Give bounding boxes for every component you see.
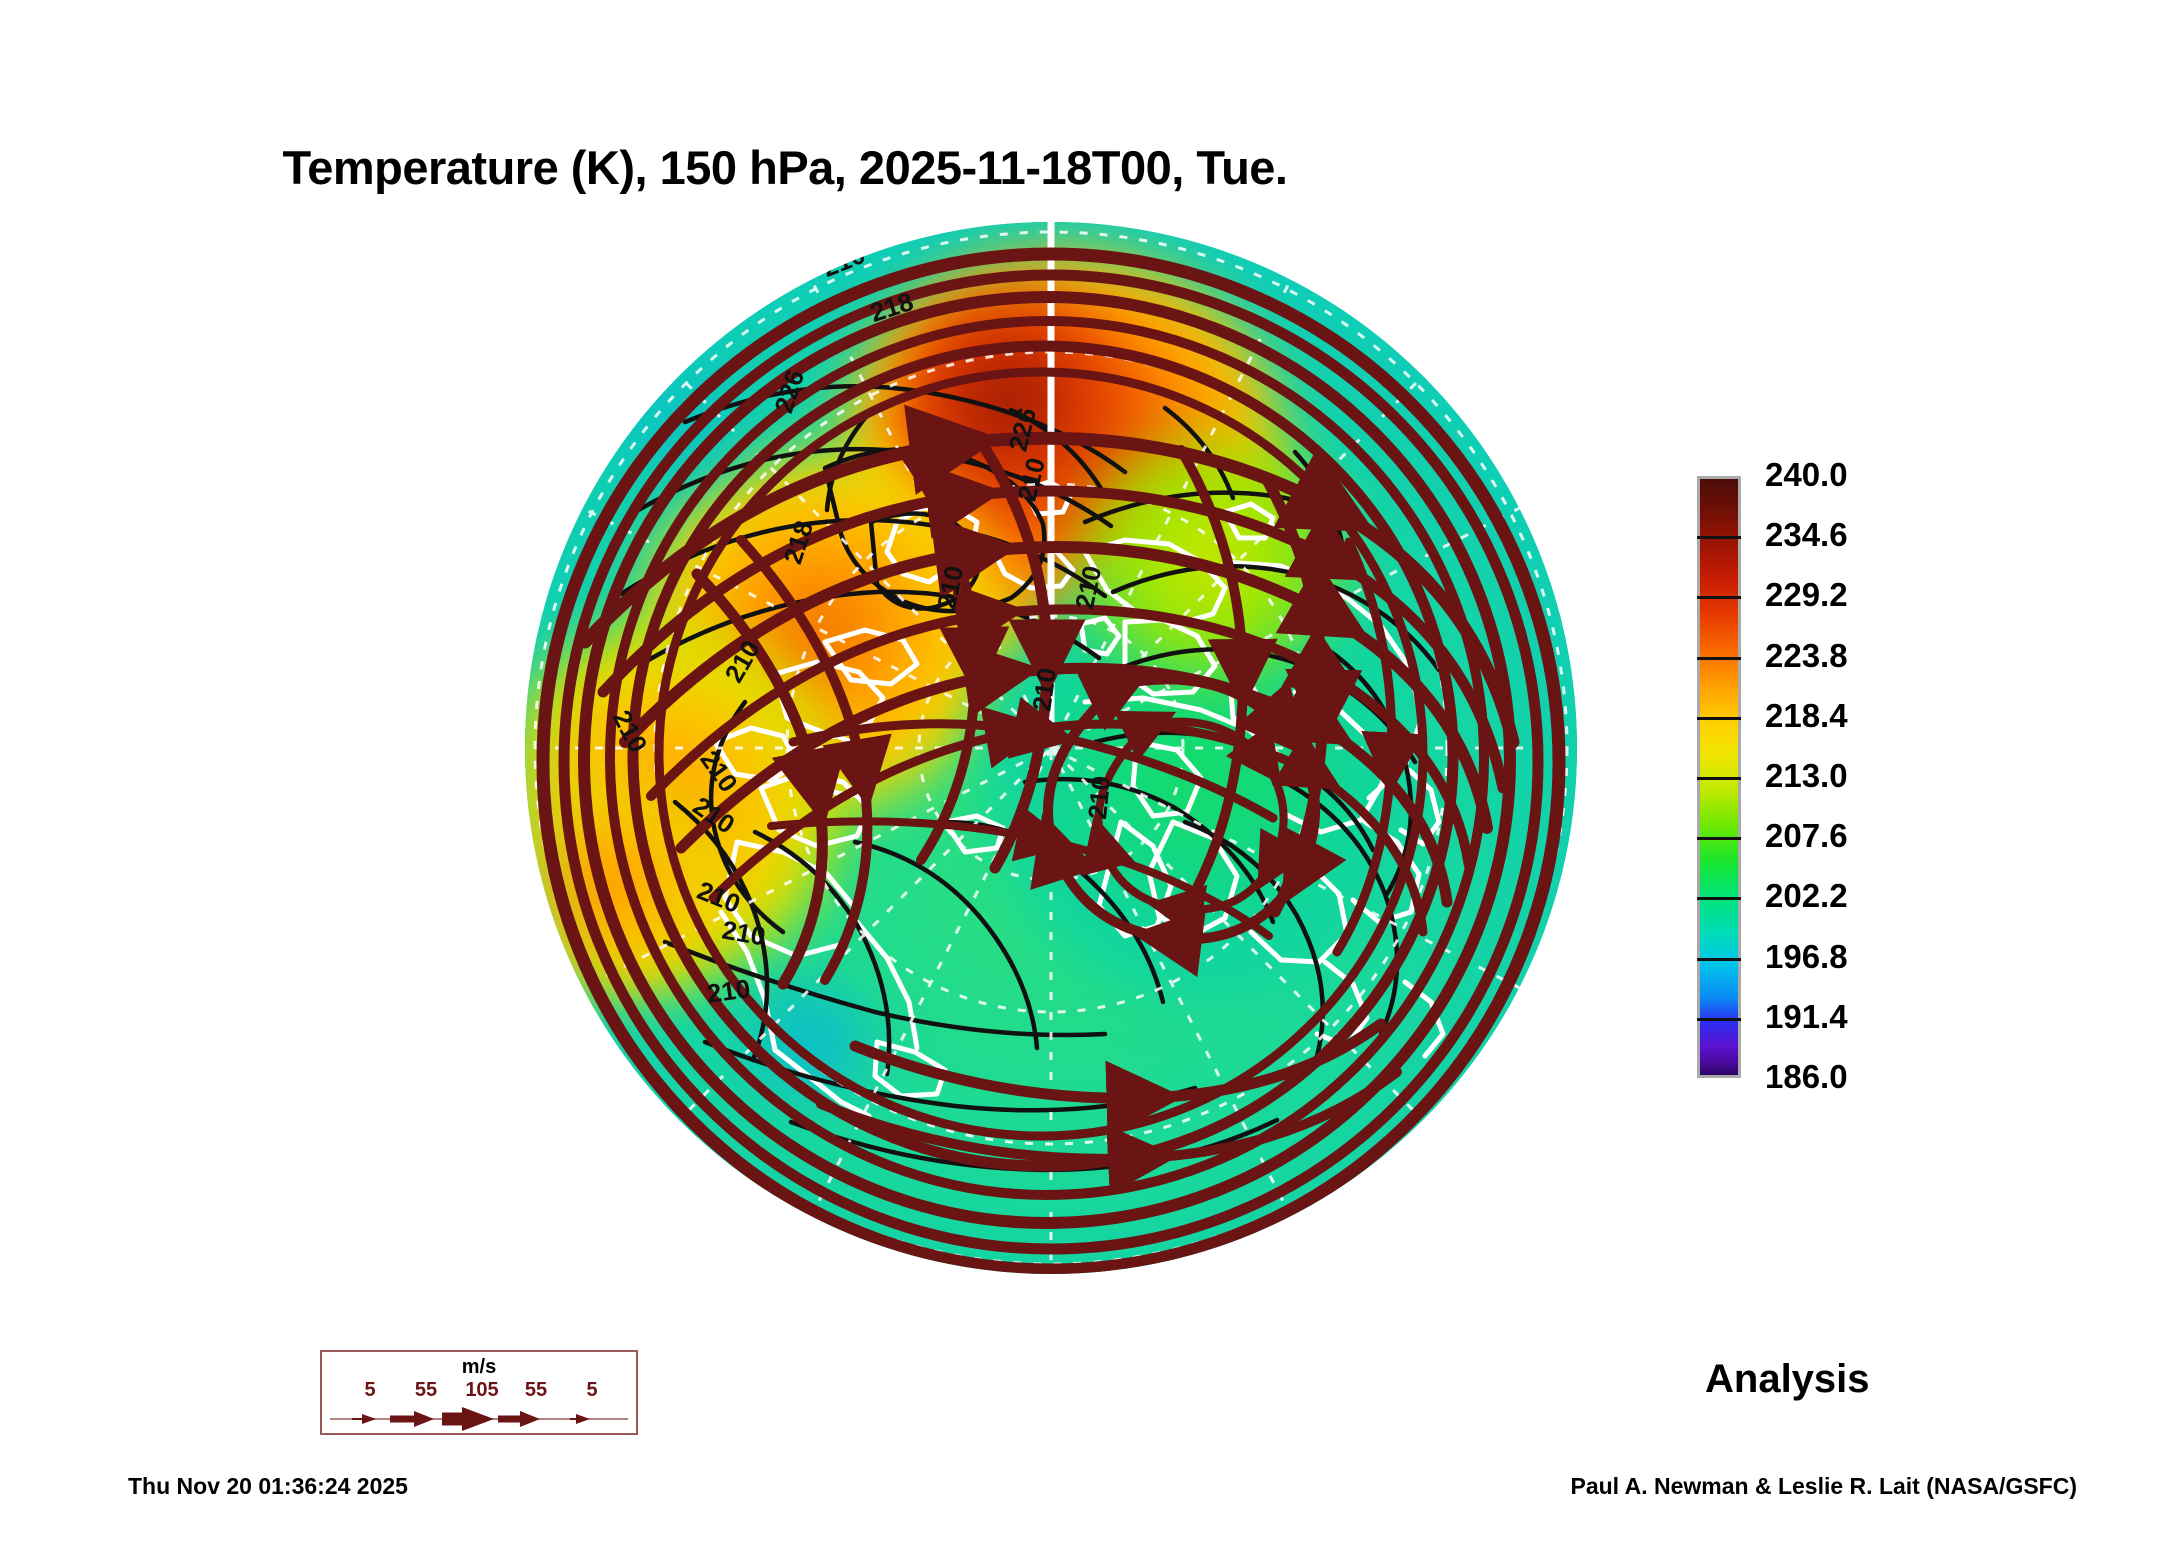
page-title: Temperature (K), 150 hPa, 2025-11-18T00,… <box>0 140 1570 195</box>
colorbar-label: 240.0 <box>1765 456 1848 494</box>
wind-streamline-layer <box>525 222 1577 1274</box>
colorbar-label: 191.4 <box>1765 998 1848 1036</box>
colorbar-tick <box>1697 958 1741 961</box>
wind-tick-label: 55 <box>525 1379 547 1402</box>
wind-tick-label: 5 <box>364 1379 375 1402</box>
author-credit: Paul A. Newman & Leslie R. Lait (NASA/GS… <box>1570 1473 2077 1500</box>
colorbar-label: 202.2 <box>1765 877 1848 915</box>
colorbar[interactable]: 240.0234.6229.2223.8218.4213.0207.6202.2… <box>1697 476 2117 1080</box>
colorbar-tick <box>1697 1018 1741 1021</box>
contour-value-label: 210 <box>1026 666 1063 713</box>
colorbar-tick <box>1697 657 1741 660</box>
globe-disc: 2102182182102262262102182102102102102102… <box>525 222 1577 1274</box>
colorbar-tick <box>1697 777 1741 780</box>
generation-timestamp: Thu Nov 20 01:36:24 2025 <box>128 1473 408 1500</box>
colorbar-tick <box>1697 897 1741 900</box>
colorbar-label: 218.4 <box>1765 697 1848 735</box>
wind-units-label: m/s <box>322 1356 636 1379</box>
colorbar-tick <box>1697 837 1741 840</box>
colorbar-label: 234.6 <box>1765 516 1848 554</box>
contour-value-label: 210 <box>1082 774 1117 820</box>
wind-tick-label: 105 <box>465 1379 498 1402</box>
colorbar-label: 223.8 <box>1765 637 1848 675</box>
analysis-label: Analysis <box>1705 1357 1870 1402</box>
colorbar-label: 207.6 <box>1765 817 1848 855</box>
wind-speed-legend: m/s 555105555 <box>320 1350 638 1435</box>
colorbar-label: 229.2 <box>1765 576 1848 614</box>
wind-arrow-scale <box>322 1404 636 1434</box>
wind-tick-label: 55 <box>415 1379 437 1402</box>
contour-value-label: 210 <box>705 973 752 1010</box>
colorbar-label: 196.8 <box>1765 938 1848 976</box>
colorbar-tick <box>1697 536 1741 539</box>
colorbar-tick <box>1697 596 1741 599</box>
colorbar-label: 213.0 <box>1765 757 1848 795</box>
colorbar-tick <box>1697 717 1741 720</box>
polar-map[interactable]: 2102182182102262262102182102102102102102… <box>525 222 1577 1274</box>
wind-tick-label: 5 <box>586 1379 597 1402</box>
colorbar-label: 186.0 <box>1765 1058 1848 1096</box>
